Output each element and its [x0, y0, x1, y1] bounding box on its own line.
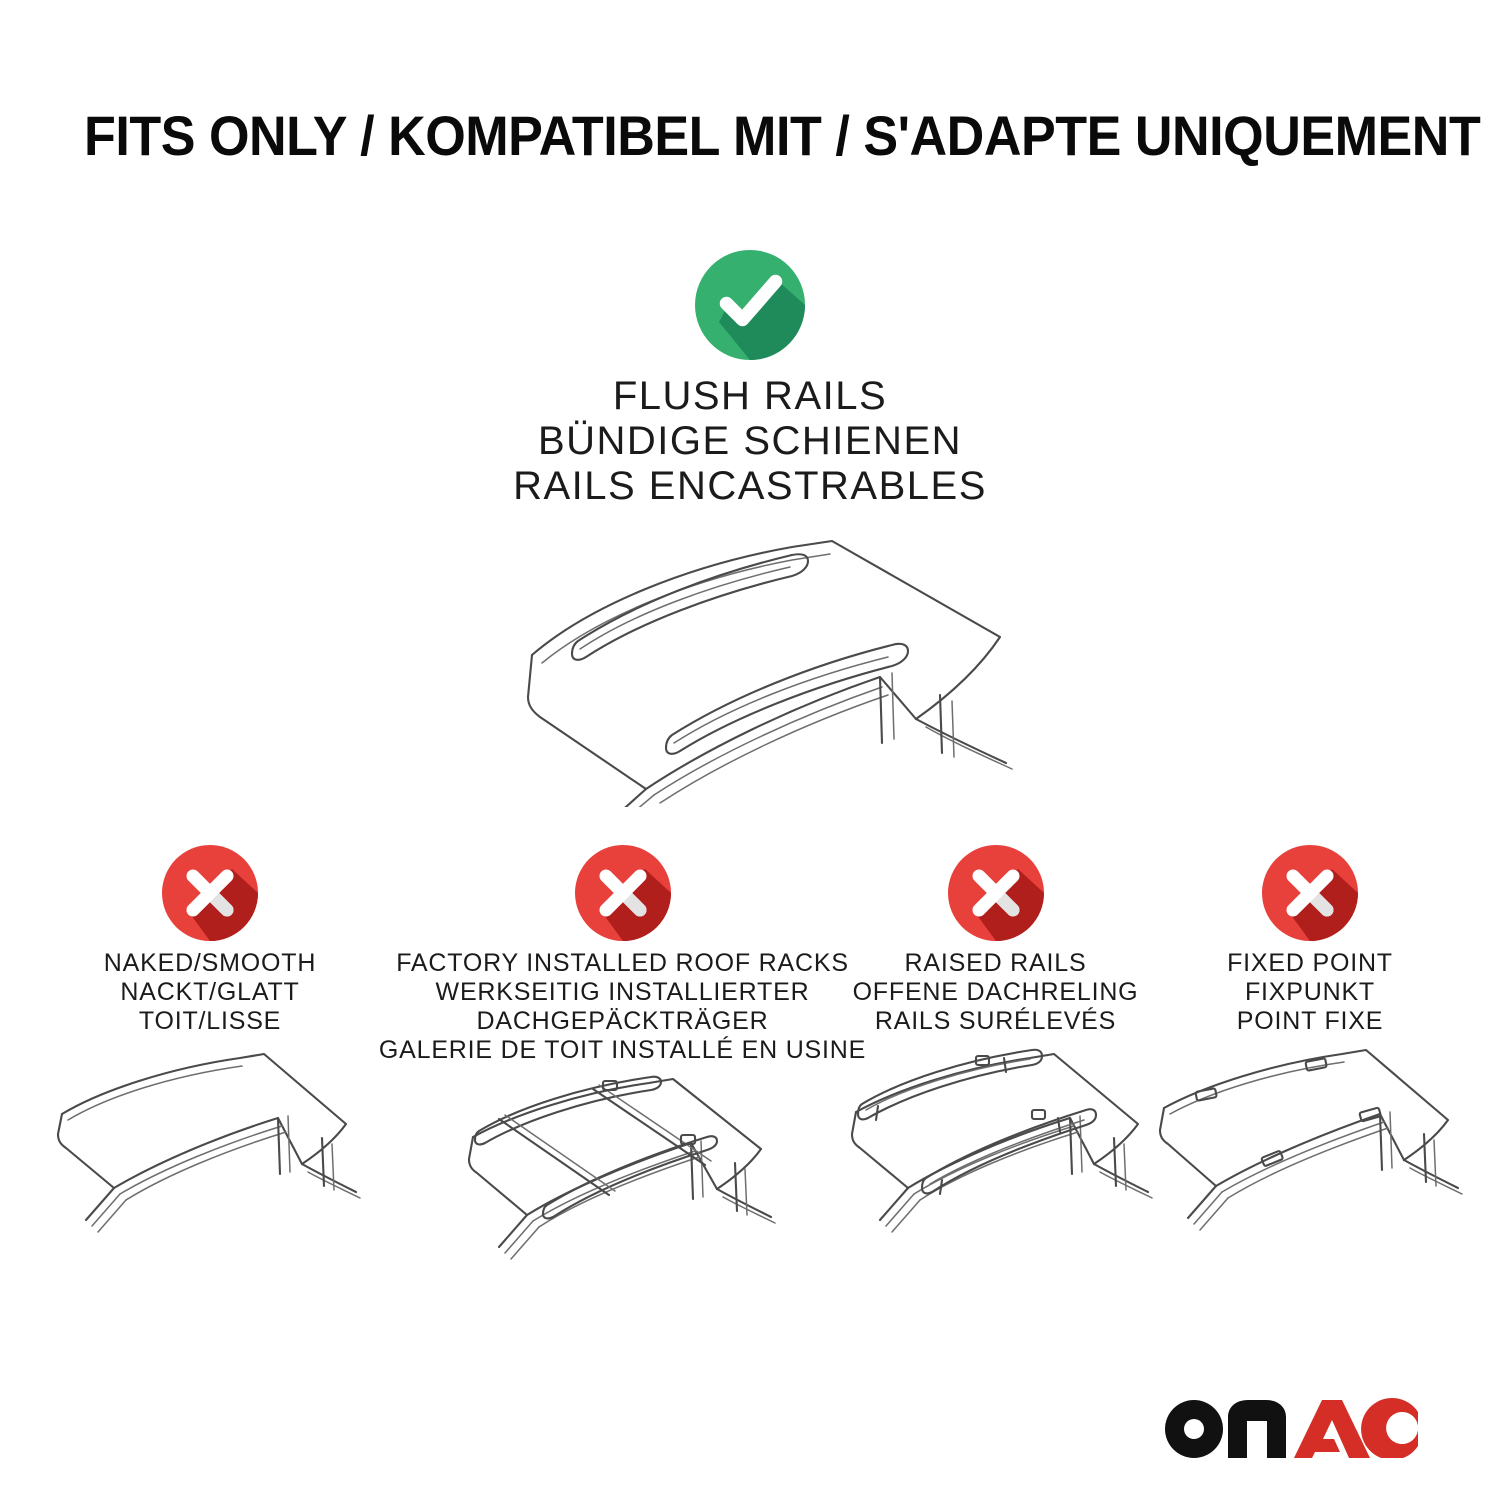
incompatible-labels: FACTORY INSTALLED ROOF RACKS WERKSEITIG … [379, 949, 866, 1065]
compatible-label-line-2: BÜNDIGE SCHIENEN [513, 419, 987, 464]
incompatible-label-line-2: FIXPUNKT [1227, 978, 1393, 1007]
incompatible-section: NAKED/SMOOTH NACKT/GLATT TOIT/LISSE [0, 845, 1500, 1315]
incompatible-label-line-1: RAISED RAILS [853, 949, 1139, 978]
incompatible-labels: NAKED/SMOOTH NACKT/GLATT TOIT/LISSE [104, 949, 316, 1036]
vehicle-roof-factory-roof-racks-illustration [443, 1065, 803, 1295]
incompatible-item-naked-smooth: NAKED/SMOOTH NACKT/GLATT TOIT/LISSE [60, 845, 360, 1266]
cross-circle-icon [162, 845, 258, 941]
cross-circle-icon [1262, 845, 1358, 941]
logo-letter-c [1361, 1398, 1418, 1458]
incompatible-label-line-2: WERKSEITIG INSTALLIERTER [379, 978, 866, 1007]
compatible-label-line-3: RAILS ENCASTRABLES [513, 464, 987, 509]
incompatible-label-line-1: FIXED POINT [1227, 949, 1393, 978]
logo-letter-o [1165, 1400, 1223, 1458]
logo-letter-m [1228, 1400, 1286, 1458]
incompatible-label-line-3: DACHGEPÄCKTRÄGER [379, 1007, 866, 1036]
page-title: FITS ONLY / KOMPATIBEL MIT / S'ADAPTE UN… [84, 104, 1424, 166]
omac-logo: OMAC [1160, 1396, 1422, 1458]
incompatible-label-line-4: GALERIE DE TOIT INSTALLÉ EN USINE [379, 1036, 866, 1065]
incompatible-label-line-2: OFFENE DACHRELING [853, 978, 1139, 1007]
incompatible-label-line-3: TOIT/LISSE [104, 1007, 316, 1036]
incompatible-item-factory-roof-racks: FACTORY INSTALLED ROOF RACKS WERKSEITIG … [400, 845, 845, 1295]
incompatible-label-line-2: NACKT/GLATT [104, 978, 316, 1007]
check-circle-icon [695, 250, 805, 360]
compatible-labels: FLUSH RAILS BÜNDIGE SCHIENEN RAILS ENCAS… [513, 374, 987, 509]
incompatible-label-line-1: NAKED/SMOOTH [104, 949, 316, 978]
vehicle-roof-flush-rails-illustration [440, 509, 1060, 812]
vehicle-roof-raised-rails-illustration [826, 1036, 1166, 1266]
logo-letter-a [1294, 1400, 1370, 1458]
page-title-text: FITS ONLY / KOMPATIBEL MIT / S'ADAPTE UN… [84, 103, 1480, 168]
cross-circle-icon [948, 845, 1044, 941]
incompatible-label-line-3: RAILS SURÉLEVÉS [853, 1007, 1139, 1036]
incompatible-item-raised-rails: RAISED RAILS OFFENE DACHRELING RAILS SUR… [838, 845, 1153, 1266]
incompatible-item-fixed-point: FIXED POINT FIXPUNKT POINT FIXE [1160, 845, 1460, 1266]
vehicle-roof-naked-smooth-illustration [40, 1036, 380, 1266]
compatible-label-line-1: FLUSH RAILS [513, 374, 987, 419]
incompatible-labels: FIXED POINT FIXPUNKT POINT FIXE [1227, 949, 1393, 1036]
incompatible-labels: RAISED RAILS OFFENE DACHRELING RAILS SUR… [853, 949, 1139, 1036]
vehicle-roof-fixed-point-illustration [1140, 1036, 1480, 1266]
incompatible-label-line-1: FACTORY INSTALLED ROOF RACKS [379, 949, 866, 978]
incompatible-label-line-3: POINT FIXE [1227, 1007, 1393, 1036]
compatible-section: FLUSH RAILS BÜNDIGE SCHIENEN RAILS ENCAS… [0, 250, 1500, 812]
cross-circle-icon [575, 845, 671, 941]
